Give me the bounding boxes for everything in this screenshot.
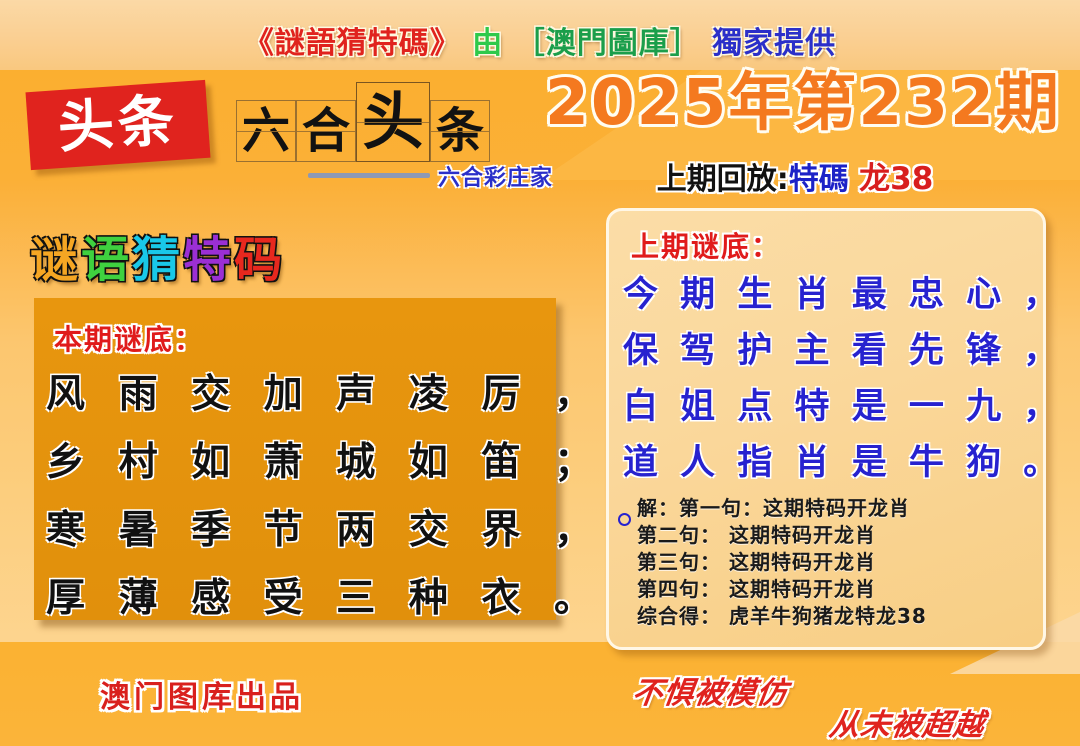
last-draw-line: 上期回放:特碼 龙38 (545, 153, 1045, 198)
grid-cell-3: 头 (356, 82, 430, 162)
grid-cell-1: 六 (236, 100, 296, 162)
header-segment-title: 《謎語猜特碼》 (244, 26, 461, 61)
grid-char-4: 条 (436, 107, 484, 155)
sub-label-divider (308, 173, 430, 178)
riddle-line: 厚 薄 感 受 三 种 衣 。 (46, 564, 546, 632)
grid-char-2: 合 (302, 107, 350, 155)
previous-riddle-line: 今 期 生 肖 最 忠 心 ， (623, 267, 1043, 323)
explanation-line: 解：第一句：这期特码开龙肖 (637, 495, 1047, 522)
last-draw-label: 上期回放: (657, 162, 789, 197)
grid-char-3: 头 (362, 91, 424, 153)
previous-riddle-panel: 上期谜底： 今 期 生 肖 最 忠 心 ， 保 驾 护 主 看 先 锋 ， 白 … (606, 208, 1046, 650)
footer-slogan-1: 不惧被模仿 (630, 668, 791, 712)
footer-brand: 澳门图库出品 (100, 672, 304, 716)
grid-cell-4: 条 (430, 100, 490, 162)
current-riddle-heading: 本期谜底： (54, 318, 204, 358)
rainbow-char-4: 特 (183, 232, 234, 288)
issue-title: 2025年第232期 (545, 68, 1045, 137)
sub-label: 六合彩庄家 (438, 160, 553, 192)
explanation-line: 第三句： 这期特码开龙肖 (637, 549, 1047, 576)
bullet-circle-icon (618, 513, 631, 526)
header-segment-exclusive: 獨家提供 (712, 26, 836, 61)
liuhe-toutiao-grid: 六 合 头 条 (236, 82, 490, 162)
explanation-lines: 解：第一句：这期特码开龙肖 第二句： 这期特码开龙肖 第三句： 这期特码开龙肖 … (637, 495, 1047, 630)
explanation-line: 第四句： 这期特码开龙肖 (637, 576, 1047, 603)
explanation-line: 综合得： 虎羊牛狗猪龙特龙38 (637, 603, 1047, 630)
last-draw-special-label: 特碼 (789, 162, 849, 197)
previous-riddle-heading: 上期谜底： (631, 225, 781, 265)
header-segment-source: ［澳門圖庫］ (515, 26, 701, 61)
last-draw-number: 龙38 (859, 161, 933, 197)
explanation-line: 第二句： 这期特码开龙肖 (637, 522, 1047, 549)
current-riddle-lines: 风 雨 交 加 声 凌 厉 ， 乡 村 如 萧 城 如 笛 ； 寒 暑 季 节 … (46, 360, 546, 632)
riddle-line: 风 雨 交 加 声 凌 厉 ， (46, 360, 546, 428)
rainbow-char-1: 谜 (30, 232, 81, 288)
riddle-line: 寒 暑 季 节 两 交 界 ， (46, 496, 546, 564)
riddle-line: 乡 村 如 萧 城 如 笛 ； (46, 428, 546, 496)
riddle-section-title: 谜语猜特码 (30, 236, 285, 284)
toutiao-badge: 头条 (25, 80, 210, 170)
previous-riddle-line: 道 人 指 肖 是 牛 狗 。 (623, 435, 1043, 491)
rainbow-char-3: 猜 (132, 232, 183, 288)
previous-riddle-line: 保 驾 护 主 看 先 锋 ， (623, 323, 1043, 379)
header-segment-by: 由 (472, 26, 503, 61)
header-tagline: 《謎語猜特碼》 由 ［澳門圖庫］ 獨家提供 (0, 18, 1080, 58)
previous-riddle-lines: 今 期 生 肖 最 忠 心 ， 保 驾 护 主 看 先 锋 ， 白 姐 点 特 … (623, 267, 1043, 491)
footer-slogan-2: 从未被超越 (827, 700, 988, 744)
toutiao-badge-label: 头条 (56, 93, 180, 157)
grid-char-1: 六 (242, 107, 290, 155)
grid-cell-2: 合 (296, 100, 356, 162)
rainbow-char-2: 语 (81, 232, 132, 288)
rainbow-char-5: 码 (234, 232, 285, 288)
previous-riddle-line: 白 姐 点 特 是 一 九 ， (623, 379, 1043, 435)
